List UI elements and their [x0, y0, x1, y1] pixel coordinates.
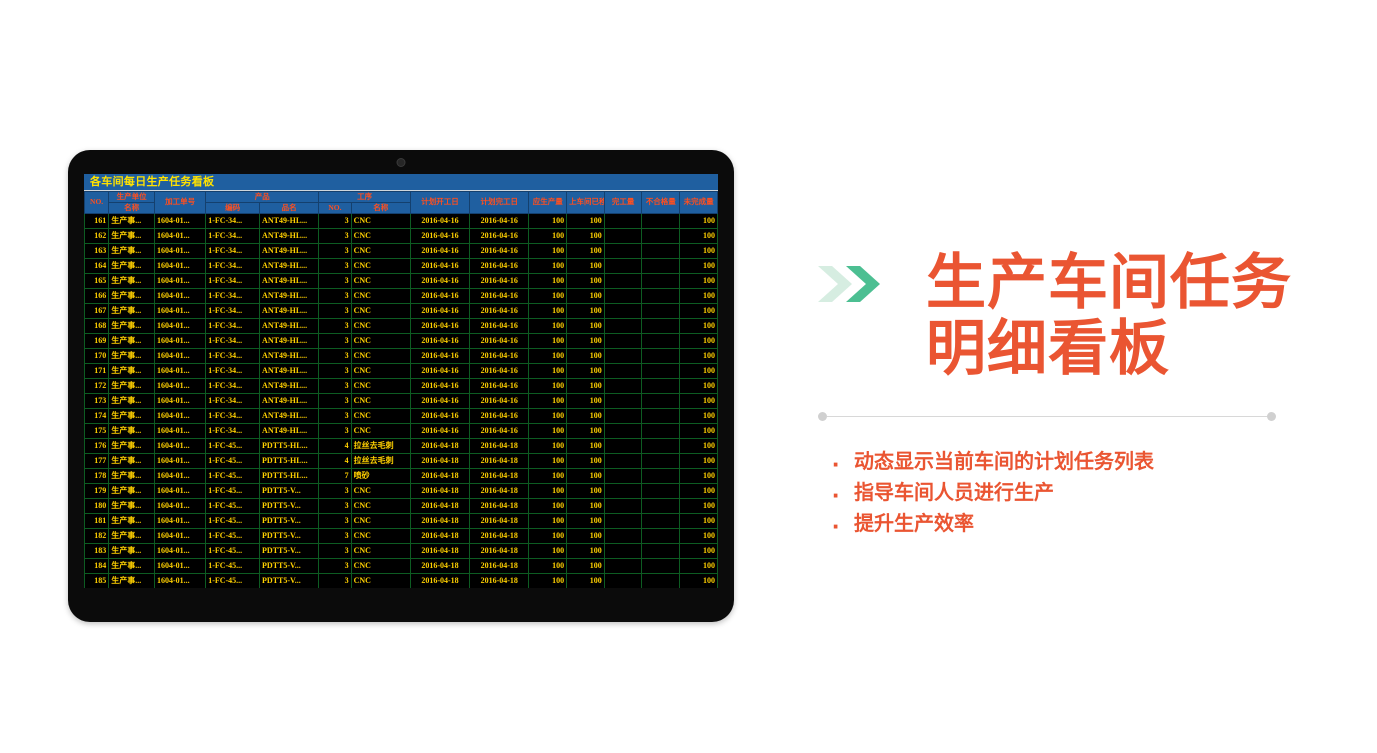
cell-bad-qty [642, 348, 680, 363]
cell-product-code: 1-FC-45... [206, 438, 260, 453]
table-row[interactable]: 182生产事...1604-01...1-FC-45...PDTT5-V...3… [85, 528, 718, 543]
cell-done-qty [604, 408, 642, 423]
cell-process-name: CNC [351, 258, 410, 273]
cell-done-qty [604, 453, 642, 468]
cell-plan-qty: 100 [529, 483, 567, 498]
cell-product-name: ANT49-HL... [260, 363, 319, 378]
cell-process-no: 3 [319, 318, 351, 333]
cell-plan-start: 2016-04-18 [410, 453, 469, 468]
cell-product-code: 1-FC-45... [206, 558, 260, 573]
cell-done-qty [604, 513, 642, 528]
cell-product-name: PDTT5-V... [260, 498, 319, 513]
th-process-no: NO. [319, 202, 351, 213]
cell-plan-qty: 100 [529, 258, 567, 273]
camera-icon [397, 158, 406, 167]
cell-product-code: 1-FC-34... [206, 348, 260, 363]
cell-product-name: PDTT5-V... [260, 558, 319, 573]
table-row[interactable]: 174生产事...1604-01...1-FC-34...ANT49-HL...… [85, 408, 718, 423]
cell-no: 177 [85, 453, 109, 468]
cell-order: 1604-01... [155, 273, 206, 288]
cell-process-name: CNC [351, 363, 410, 378]
cell-done-qty [604, 558, 642, 573]
cell-bad-qty [642, 333, 680, 348]
cell-moved-qty: 100 [567, 528, 605, 543]
cell-moved-qty: 100 [567, 393, 605, 408]
cell-process-name: CNC [351, 393, 410, 408]
cell-process-no: 3 [319, 393, 351, 408]
cell-moved-qty: 100 [567, 543, 605, 558]
table-row[interactable]: 184生产事...1604-01...1-FC-45...PDTT5-V...3… [85, 558, 718, 573]
cell-bad-qty [642, 498, 680, 513]
cell-done-qty [604, 318, 642, 333]
cell-bad-qty [642, 573, 680, 588]
table-row[interactable]: 183生产事...1604-01...1-FC-45...PDTT5-V...3… [85, 543, 718, 558]
cell-plan-qty: 100 [529, 348, 567, 363]
cell-order: 1604-01... [155, 393, 206, 408]
divider-dot-right [1267, 412, 1276, 421]
cell-bad-qty [642, 423, 680, 438]
kanban-app: 各车间每日生产任务看板 NO. 生产单位 加工单号 产品 [84, 174, 718, 588]
cell-unit: 生产事... [109, 303, 155, 318]
cell-product-code: 1-FC-45... [206, 468, 260, 483]
table-row[interactable]: 185生产事...1604-01...1-FC-45...PDTT5-V...3… [85, 573, 718, 588]
cell-plan-start: 2016-04-18 [410, 528, 469, 543]
feature-bullet: 提升生产效率 [832, 509, 1298, 540]
cell-no: 174 [85, 408, 109, 423]
cell-plan-end: 2016-04-18 [470, 513, 529, 528]
table-row[interactable]: 181生产事...1604-01...1-FC-45...PDTT5-V...3… [85, 513, 718, 528]
cell-unit: 生产事... [109, 258, 155, 273]
cell-product-code: 1-FC-34... [206, 273, 260, 288]
cell-order: 1604-01... [155, 408, 206, 423]
cell-plan-qty: 100 [529, 213, 567, 228]
cell-process-no: 3 [319, 423, 351, 438]
th-no: NO. [85, 192, 109, 214]
table-row[interactable]: 162生产事...1604-01...1-FC-34...ANT49-HL...… [85, 228, 718, 243]
cell-plan-end: 2016-04-16 [470, 378, 529, 393]
cell-process-no: 3 [319, 333, 351, 348]
cell-left-qty: 100 [680, 258, 718, 273]
cell-done-qty [604, 258, 642, 273]
cell-unit: 生产事... [109, 513, 155, 528]
cell-bad-qty [642, 408, 680, 423]
cell-process-name: CNC [351, 573, 410, 588]
cell-product-code: 1-FC-45... [206, 453, 260, 468]
cell-process-name: CNC [351, 273, 410, 288]
cell-unit: 生产事... [109, 498, 155, 513]
cell-order: 1604-01... [155, 528, 206, 543]
table-row[interactable]: 171生产事...1604-01...1-FC-34...ANT49-HL...… [85, 363, 718, 378]
th-process-name: 名称 [351, 202, 410, 213]
table-row[interactable]: 167生产事...1604-01...1-FC-34...ANT49-HL...… [85, 303, 718, 318]
cell-unit: 生产事... [109, 483, 155, 498]
cell-process-name: CNC [351, 213, 410, 228]
cell-plan-start: 2016-04-18 [410, 558, 469, 573]
th-plan-qty: 应生产量 [529, 192, 567, 214]
cell-product-name: ANT49-HL... [260, 273, 319, 288]
cell-bad-qty [642, 453, 680, 468]
cell-order: 1604-01... [155, 558, 206, 573]
cell-process-name: 拉丝去毛刺 [351, 453, 410, 468]
table-row[interactable]: 180生产事...1604-01...1-FC-45...PDTT5-V...3… [85, 498, 718, 513]
th-product-group: 产品 [206, 192, 319, 203]
cell-product-name: ANT49-HL... [260, 408, 319, 423]
cell-left-qty: 100 [680, 558, 718, 573]
cell-plan-end: 2016-04-16 [470, 243, 529, 258]
cell-plan-start: 2016-04-16 [410, 393, 469, 408]
cell-unit: 生产事... [109, 348, 155, 363]
cell-plan-start: 2016-04-16 [410, 318, 469, 333]
cell-product-name: ANT49-HL... [260, 393, 319, 408]
double-chevron-right-icon [818, 264, 884, 309]
table-body: 161生产事...1604-01...1-FC-34...ANT49-HL...… [85, 213, 718, 588]
cell-process-name: CNC [351, 333, 410, 348]
cell-product-name: ANT49-HL... [260, 243, 319, 258]
cell-product-name: ANT49-HL... [260, 258, 319, 273]
cell-moved-qty: 100 [567, 288, 605, 303]
cell-process-no: 3 [319, 558, 351, 573]
cell-moved-qty: 100 [567, 318, 605, 333]
cell-no: 166 [85, 288, 109, 303]
table-row[interactable]: 165生产事...1604-01...1-FC-34...ANT49-HL...… [85, 273, 718, 288]
cell-plan-end: 2016-04-18 [470, 483, 529, 498]
cell-plan-start: 2016-04-16 [410, 213, 469, 228]
cell-product-code: 1-FC-34... [206, 258, 260, 273]
cell-process-name: CNC [351, 483, 410, 498]
cell-plan-start: 2016-04-16 [410, 243, 469, 258]
cell-no: 164 [85, 258, 109, 273]
table-row[interactable]: 163生产事...1604-01...1-FC-34...ANT49-HL...… [85, 243, 718, 258]
table-row[interactable]: 176生产事...1604-01...1-FC-45...PDTT5-HL...… [85, 438, 718, 453]
cell-bad-qty [642, 363, 680, 378]
cell-product-code: 1-FC-45... [206, 498, 260, 513]
cell-no: 175 [85, 423, 109, 438]
cell-product-name: ANT49-HL... [260, 378, 319, 393]
cell-plan-qty: 100 [529, 363, 567, 378]
cell-moved-qty: 100 [567, 213, 605, 228]
cell-moved-qty: 100 [567, 453, 605, 468]
cell-left-qty: 100 [680, 393, 718, 408]
cell-no: 183 [85, 543, 109, 558]
cell-product-code: 1-FC-34... [206, 363, 260, 378]
cell-left-qty: 100 [680, 228, 718, 243]
th-process-group: 工序 [319, 192, 411, 203]
cell-plan-start: 2016-04-16 [410, 408, 469, 423]
cell-no: 163 [85, 243, 109, 258]
table-row[interactable]: 172生产事...1604-01...1-FC-34...ANT49-HL...… [85, 378, 718, 393]
cell-no: 173 [85, 393, 109, 408]
table-row[interactable]: 173生产事...1604-01...1-FC-34...ANT49-HL...… [85, 393, 718, 408]
cell-no: 171 [85, 363, 109, 378]
cell-plan-end: 2016-04-16 [470, 408, 529, 423]
cell-process-no: 3 [319, 498, 351, 513]
cell-plan-start: 2016-04-18 [410, 498, 469, 513]
cell-plan-qty: 100 [529, 303, 567, 318]
cell-product-name: ANT49-HL... [260, 228, 319, 243]
cell-done-qty [604, 348, 642, 363]
cell-moved-qty: 100 [567, 333, 605, 348]
cell-process-name: CNC [351, 423, 410, 438]
cell-process-no: 3 [319, 408, 351, 423]
cell-process-name: 拉丝去毛刺 [351, 438, 410, 453]
cell-process-name: CNC [351, 378, 410, 393]
table-row[interactable]: 175生产事...1604-01...1-FC-34...ANT49-HL...… [85, 423, 718, 438]
cell-plan-end: 2016-04-16 [470, 288, 529, 303]
cell-plan-start: 2016-04-18 [410, 438, 469, 453]
cell-no: 172 [85, 378, 109, 393]
cell-done-qty [604, 468, 642, 483]
cell-order: 1604-01... [155, 513, 206, 528]
cell-left-qty: 100 [680, 498, 718, 513]
cell-product-name: ANT49-HL... [260, 348, 319, 363]
cell-bad-qty [642, 543, 680, 558]
cell-process-name: CNC [351, 408, 410, 423]
cell-order: 1604-01... [155, 243, 206, 258]
cell-product-name: ANT49-HL... [260, 333, 319, 348]
table-row[interactable]: 170生产事...1604-01...1-FC-34...ANT49-HL...… [85, 348, 718, 363]
cell-process-no: 3 [319, 288, 351, 303]
feature-bullet-list: 动态显示当前车间的计划任务列表指导车间人员进行生产提升生产效率 [832, 447, 1298, 540]
cell-plan-qty: 100 [529, 528, 567, 543]
th-plan-end: 计划完工日 [470, 192, 529, 214]
cell-plan-end: 2016-04-18 [470, 453, 529, 468]
table-row[interactable]: 161生产事...1604-01...1-FC-34...ANT49-HL...… [85, 213, 718, 228]
cell-left-qty: 100 [680, 408, 718, 423]
divider-line [827, 416, 1267, 417]
cell-moved-qty: 100 [567, 348, 605, 363]
cell-moved-qty: 100 [567, 483, 605, 498]
cell-process-no: 3 [319, 528, 351, 543]
cell-moved-qty: 100 [567, 243, 605, 258]
table-header-row-group: NO. 生产单位 加工单号 产品 工序 计划开工日 计划完工日 应生产量 上车间… [85, 192, 718, 203]
cell-plan-qty: 100 [529, 243, 567, 258]
cell-order: 1604-01... [155, 423, 206, 438]
cell-bad-qty [642, 483, 680, 498]
cell-process-name: CNC [351, 288, 410, 303]
cell-process-no: 7 [319, 468, 351, 483]
cell-product-name: PDTT5-V... [260, 528, 319, 543]
cell-product-name: PDTT5-V... [260, 513, 319, 528]
cell-process-no: 3 [319, 273, 351, 288]
th-done-qty: 完工量 [604, 192, 642, 214]
table-row[interactable]: 169生产事...1604-01...1-FC-34...ANT49-HL...… [85, 333, 718, 348]
cell-plan-end: 2016-04-18 [470, 528, 529, 543]
cell-plan-start: 2016-04-16 [410, 303, 469, 318]
cell-left-qty: 100 [680, 528, 718, 543]
cell-product-name: ANT49-HL... [260, 423, 319, 438]
cell-plan-qty: 100 [529, 408, 567, 423]
cell-product-code: 1-FC-34... [206, 408, 260, 423]
cell-done-qty [604, 288, 642, 303]
cell-process-no: 3 [319, 363, 351, 378]
table-row[interactable]: 178生产事...1604-01...1-FC-45...PDTT5-HL...… [85, 468, 718, 483]
th-product-code: 编码 [206, 202, 260, 213]
cell-bad-qty [642, 513, 680, 528]
cell-left-qty: 100 [680, 468, 718, 483]
cell-process-name: 喷砂 [351, 468, 410, 483]
cell-left-qty: 100 [680, 333, 718, 348]
th-moved-qty: 上车间已移转量 [567, 192, 605, 214]
cell-bad-qty [642, 378, 680, 393]
cell-left-qty: 100 [680, 363, 718, 378]
cell-left-qty: 100 [680, 453, 718, 468]
cell-plan-start: 2016-04-16 [410, 258, 469, 273]
cell-plan-qty: 100 [529, 378, 567, 393]
divider-dot-left [818, 412, 827, 421]
cell-done-qty [604, 483, 642, 498]
cell-unit: 生产事... [109, 228, 155, 243]
cell-moved-qty: 100 [567, 273, 605, 288]
cell-process-no: 3 [319, 378, 351, 393]
cell-unit: 生产事... [109, 438, 155, 453]
table-row[interactable]: 177生产事...1604-01...1-FC-45...PDTT5-HL...… [85, 453, 718, 468]
cell-done-qty [604, 228, 642, 243]
feature-bullet: 动态显示当前车间的计划任务列表 [832, 447, 1298, 478]
cell-process-no: 4 [319, 453, 351, 468]
cell-done-qty [604, 438, 642, 453]
cell-moved-qty: 100 [567, 468, 605, 483]
cell-bad-qty [642, 438, 680, 453]
cell-unit: 生产事... [109, 468, 155, 483]
table-row[interactable]: 179生产事...1604-01...1-FC-45...PDTT5-V...3… [85, 483, 718, 498]
cell-done-qty [604, 243, 642, 258]
cell-plan-qty: 100 [529, 543, 567, 558]
table-row[interactable]: 164生产事...1604-01...1-FC-34...ANT49-HL...… [85, 258, 718, 273]
cell-product-code: 1-FC-45... [206, 483, 260, 498]
cell-process-name: CNC [351, 228, 410, 243]
cell-done-qty [604, 213, 642, 228]
cell-plan-qty: 100 [529, 558, 567, 573]
cell-plan-end: 2016-04-18 [470, 543, 529, 558]
cell-order: 1604-01... [155, 453, 206, 468]
cell-no: 178 [85, 468, 109, 483]
cell-process-no: 3 [319, 348, 351, 363]
cell-no: 167 [85, 303, 109, 318]
cell-no: 161 [85, 213, 109, 228]
cell-plan-qty: 100 [529, 318, 567, 333]
divider [818, 412, 1276, 421]
cell-moved-qty: 100 [567, 423, 605, 438]
device-screen: 各车间每日生产任务看板 NO. 生产单位 加工单号 产品 [84, 174, 718, 588]
cell-plan-start: 2016-04-18 [410, 483, 469, 498]
cell-no: 168 [85, 318, 109, 333]
cell-process-no: 3 [319, 543, 351, 558]
cell-moved-qty: 100 [567, 228, 605, 243]
cell-left-qty: 100 [680, 483, 718, 498]
cell-order: 1604-01... [155, 498, 206, 513]
cell-moved-qty: 100 [567, 363, 605, 378]
cell-plan-start: 2016-04-16 [410, 378, 469, 393]
cell-plan-end: 2016-04-18 [470, 498, 529, 513]
cell-product-code: 1-FC-34... [206, 288, 260, 303]
cell-no: 185 [85, 573, 109, 588]
cell-product-code: 1-FC-45... [206, 543, 260, 558]
cell-unit: 生产事... [109, 213, 155, 228]
cell-order: 1604-01... [155, 468, 206, 483]
cell-no: 179 [85, 483, 109, 498]
cell-moved-qty: 100 [567, 378, 605, 393]
th-order-no: 加工单号 [155, 192, 206, 214]
cell-product-code: 1-FC-45... [206, 528, 260, 543]
cell-product-name: ANT49-HL... [260, 318, 319, 333]
table-row[interactable]: 168生产事...1604-01...1-FC-34...ANT49-HL...… [85, 318, 718, 333]
cell-process-name: CNC [351, 303, 410, 318]
cell-left-qty: 100 [680, 213, 718, 228]
cell-left-qty: 100 [680, 303, 718, 318]
cell-done-qty [604, 363, 642, 378]
cell-plan-start: 2016-04-16 [410, 273, 469, 288]
cell-bad-qty [642, 243, 680, 258]
cell-product-name: PDTT5-V... [260, 543, 319, 558]
cell-product-code: 1-FC-34... [206, 213, 260, 228]
cell-plan-end: 2016-04-16 [470, 258, 529, 273]
cell-plan-start: 2016-04-16 [410, 348, 469, 363]
cell-order: 1604-01... [155, 303, 206, 318]
cell-process-no: 3 [319, 483, 351, 498]
cell-plan-end: 2016-04-16 [470, 273, 529, 288]
cell-product-name: ANT49-HL... [260, 288, 319, 303]
cell-plan-end: 2016-04-16 [470, 213, 529, 228]
cell-plan-end: 2016-04-16 [470, 228, 529, 243]
cell-done-qty [604, 528, 642, 543]
cell-unit: 生产事... [109, 408, 155, 423]
cell-left-qty: 100 [680, 348, 718, 363]
cell-plan-end: 2016-04-18 [470, 558, 529, 573]
cell-order: 1604-01... [155, 228, 206, 243]
cell-bad-qty [642, 318, 680, 333]
cell-process-no: 3 [319, 513, 351, 528]
cell-moved-qty: 100 [567, 303, 605, 318]
cell-plan-end: 2016-04-18 [470, 468, 529, 483]
cell-product-name: PDTT5-HL... [260, 438, 319, 453]
cell-process-name: CNC [351, 558, 410, 573]
feature-bullet: 指导车间人员进行生产 [832, 478, 1298, 509]
cell-plan-end: 2016-04-16 [470, 423, 529, 438]
kanban-window-title: 各车间每日生产任务看板 [84, 174, 718, 191]
cell-done-qty [604, 333, 642, 348]
cell-plan-start: 2016-04-18 [410, 468, 469, 483]
cell-bad-qty [642, 288, 680, 303]
cell-plan-qty: 100 [529, 393, 567, 408]
cell-process-no: 3 [319, 573, 351, 588]
cell-process-name: CNC [351, 348, 410, 363]
cell-no: 170 [85, 348, 109, 363]
cell-bad-qty [642, 228, 680, 243]
cell-product-code: 1-FC-34... [206, 333, 260, 348]
cell-plan-start: 2016-04-16 [410, 423, 469, 438]
cell-left-qty: 100 [680, 513, 718, 528]
cell-plan-qty: 100 [529, 333, 567, 348]
cell-moved-qty: 100 [567, 573, 605, 588]
cell-process-name: CNC [351, 543, 410, 558]
cell-left-qty: 100 [680, 243, 718, 258]
cell-product-name: PDTT5-V... [260, 573, 319, 588]
cell-process-name: CNC [351, 243, 410, 258]
cell-product-code: 1-FC-34... [206, 423, 260, 438]
cell-order: 1604-01... [155, 483, 206, 498]
th-unit-name: 名称 [109, 202, 155, 213]
cell-bad-qty [642, 558, 680, 573]
cell-no: 169 [85, 333, 109, 348]
cell-plan-qty: 100 [529, 228, 567, 243]
cell-plan-start: 2016-04-16 [410, 228, 469, 243]
cell-product-name: PDTT5-HL... [260, 468, 319, 483]
cell-plan-qty: 100 [529, 498, 567, 513]
cell-order: 1604-01... [155, 213, 206, 228]
cell-plan-end: 2016-04-16 [470, 333, 529, 348]
table-row[interactable]: 166生产事...1604-01...1-FC-34...ANT49-HL...… [85, 288, 718, 303]
cell-done-qty [604, 273, 642, 288]
